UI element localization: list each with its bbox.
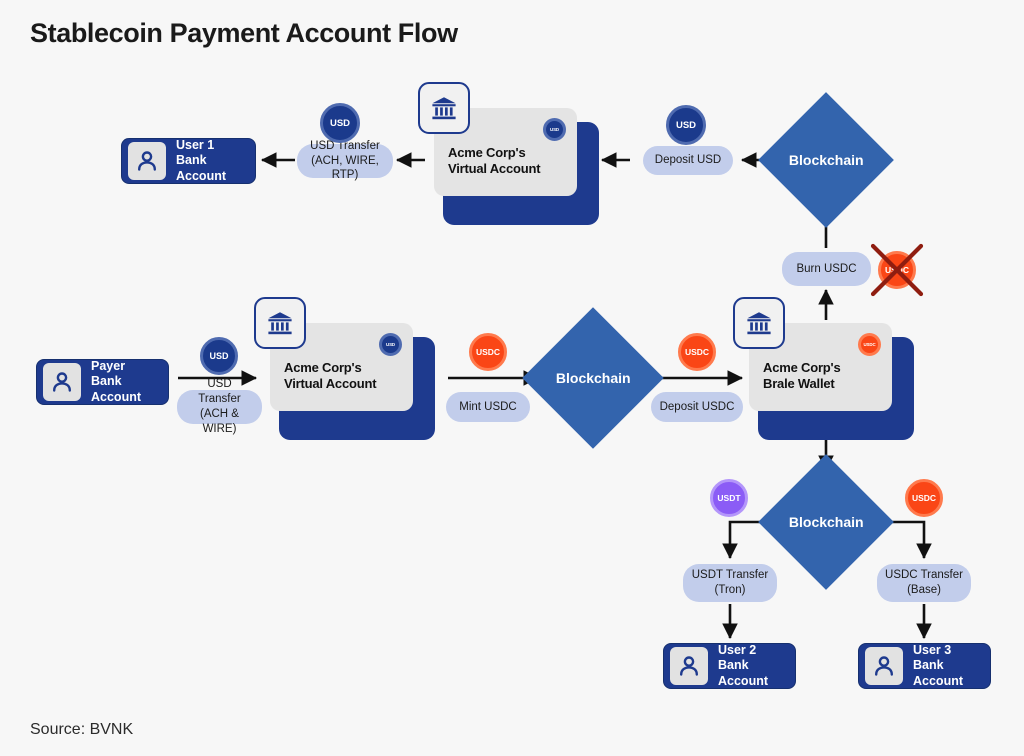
coin-usdc-mint: USDC bbox=[469, 333, 507, 371]
usdc-chip-icon: USDC bbox=[858, 333, 881, 356]
coin-usdt-tron-label: USDT bbox=[717, 493, 740, 503]
usd-chip-icon: USD bbox=[379, 333, 402, 356]
coin-usd-top-left-label: USD bbox=[330, 118, 350, 129]
blockchain-bottom-label: Blockchain bbox=[789, 514, 864, 530]
coin-usdc-mint-label: USDC bbox=[476, 347, 500, 357]
coin-usd-mid-left-label: USD bbox=[209, 351, 228, 361]
usdt-transfer-tron-label: USDT Transfer (Tron) bbox=[692, 568, 768, 598]
person-icon bbox=[865, 647, 903, 685]
blockchain-top-label: Blockchain bbox=[789, 152, 864, 168]
user3-bank-account-label: User 3 Bank Account bbox=[913, 643, 978, 689]
payer-bank-account-label: Payer Bank Account bbox=[91, 359, 156, 405]
acme-brale-wallet-title: Acme Corp's Brale Wallet bbox=[763, 360, 840, 393]
usd-transfer-rtp-pill[interactable]: USD Transfer (ACH, WIRE, RTP) bbox=[297, 144, 393, 178]
usdc-chip-label: USDC bbox=[863, 342, 875, 347]
deposit-usdc-label: Deposit USDC bbox=[660, 400, 735, 415]
usd-transfer-wire-pill[interactable]: USD Transfer (ACH & WIRE) bbox=[177, 390, 262, 424]
deposit-usd-pill[interactable]: Deposit USD bbox=[643, 146, 733, 175]
usdc-transfer-base-label: USDC Transfer (Base) bbox=[885, 568, 963, 598]
usd-chip-label: USD bbox=[550, 127, 559, 132]
coin-usd-top-right: USD bbox=[666, 105, 706, 145]
usdc-transfer-base-pill[interactable]: USDC Transfer (Base) bbox=[877, 564, 971, 602]
user2-bank-account[interactable]: User 2 Bank Account bbox=[663, 643, 796, 689]
acme-virtual-account-top-title: Acme Corp's Virtual Account bbox=[448, 145, 540, 178]
coin-usdc-base: USDC bbox=[905, 479, 943, 517]
coin-usd-mid-left: USD bbox=[200, 337, 238, 375]
acme-virtual-account-top[interactable]: Acme Corp's Virtual Account USD bbox=[434, 108, 599, 225]
mint-usdc-pill[interactable]: Mint USDC bbox=[446, 392, 530, 422]
acme-virtual-account-mid[interactable]: Acme Corp's Virtual Account USD bbox=[270, 323, 435, 440]
usd-chip-icon: USD bbox=[543, 118, 566, 141]
person-icon bbox=[670, 647, 708, 685]
coin-usdc-deposit: USDC bbox=[678, 333, 716, 371]
user1-bank-account[interactable]: User 1 Bank Account bbox=[121, 138, 256, 184]
deposit-usd-label: Deposit USD bbox=[655, 153, 721, 168]
coin-usd-top-right-label: USD bbox=[676, 120, 696, 131]
coin-usdt-tron: USDT bbox=[710, 479, 748, 517]
user2-bank-account-label: User 2 Bank Account bbox=[718, 643, 783, 689]
user3-bank-account[interactable]: User 3 Bank Account bbox=[858, 643, 991, 689]
person-icon bbox=[128, 142, 166, 180]
coin-usdc-burn-group: USDC bbox=[870, 243, 924, 297]
acme-brale-wallet[interactable]: Acme Corp's Brale Wallet USDC bbox=[749, 323, 914, 440]
user1-bank-account-label: User 1 Bank Account bbox=[176, 138, 243, 184]
page-title: Stablecoin Payment Account Flow bbox=[30, 18, 458, 49]
usd-chip-label: USD bbox=[386, 342, 395, 347]
blockchain-bottom-node[interactable]: Blockchain bbox=[758, 454, 894, 590]
cross-out-icon bbox=[870, 243, 924, 297]
person-icon bbox=[43, 363, 81, 401]
coin-usdc-base-label: USDC bbox=[912, 493, 936, 503]
bank-icon bbox=[254, 297, 306, 349]
mint-usdc-label: Mint USDC bbox=[459, 400, 517, 415]
usdt-transfer-tron-pill[interactable]: USDT Transfer (Tron) bbox=[683, 564, 777, 602]
usd-transfer-wire-label: USD Transfer (ACH & WIRE) bbox=[185, 377, 254, 437]
acme-virtual-account-mid-title: Acme Corp's Virtual Account bbox=[284, 360, 376, 393]
payer-bank-account[interactable]: Payer Bank Account bbox=[36, 359, 169, 405]
blockchain-top-node[interactable]: Blockchain bbox=[758, 92, 894, 228]
bank-icon bbox=[733, 297, 785, 349]
diagram-canvas: Stablecoin Payment Account Flow Source: … bbox=[0, 0, 1024, 756]
burn-usdc-pill[interactable]: Burn USDC bbox=[782, 252, 871, 286]
burn-usdc-label: Burn USDC bbox=[796, 262, 856, 277]
blockchain-mid-label: Blockchain bbox=[556, 370, 631, 386]
blockchain-mid-node[interactable]: Blockchain bbox=[522, 307, 663, 448]
source-note: Source: BVNK bbox=[30, 721, 133, 739]
coin-usdc-deposit-label: USDC bbox=[685, 347, 709, 357]
bank-icon bbox=[418, 82, 470, 134]
usd-transfer-rtp-label: USD Transfer (ACH, WIRE, RTP) bbox=[305, 139, 385, 184]
coin-usd-top-left: USD bbox=[320, 103, 360, 143]
deposit-usdc-pill[interactable]: Deposit USDC bbox=[651, 392, 743, 422]
